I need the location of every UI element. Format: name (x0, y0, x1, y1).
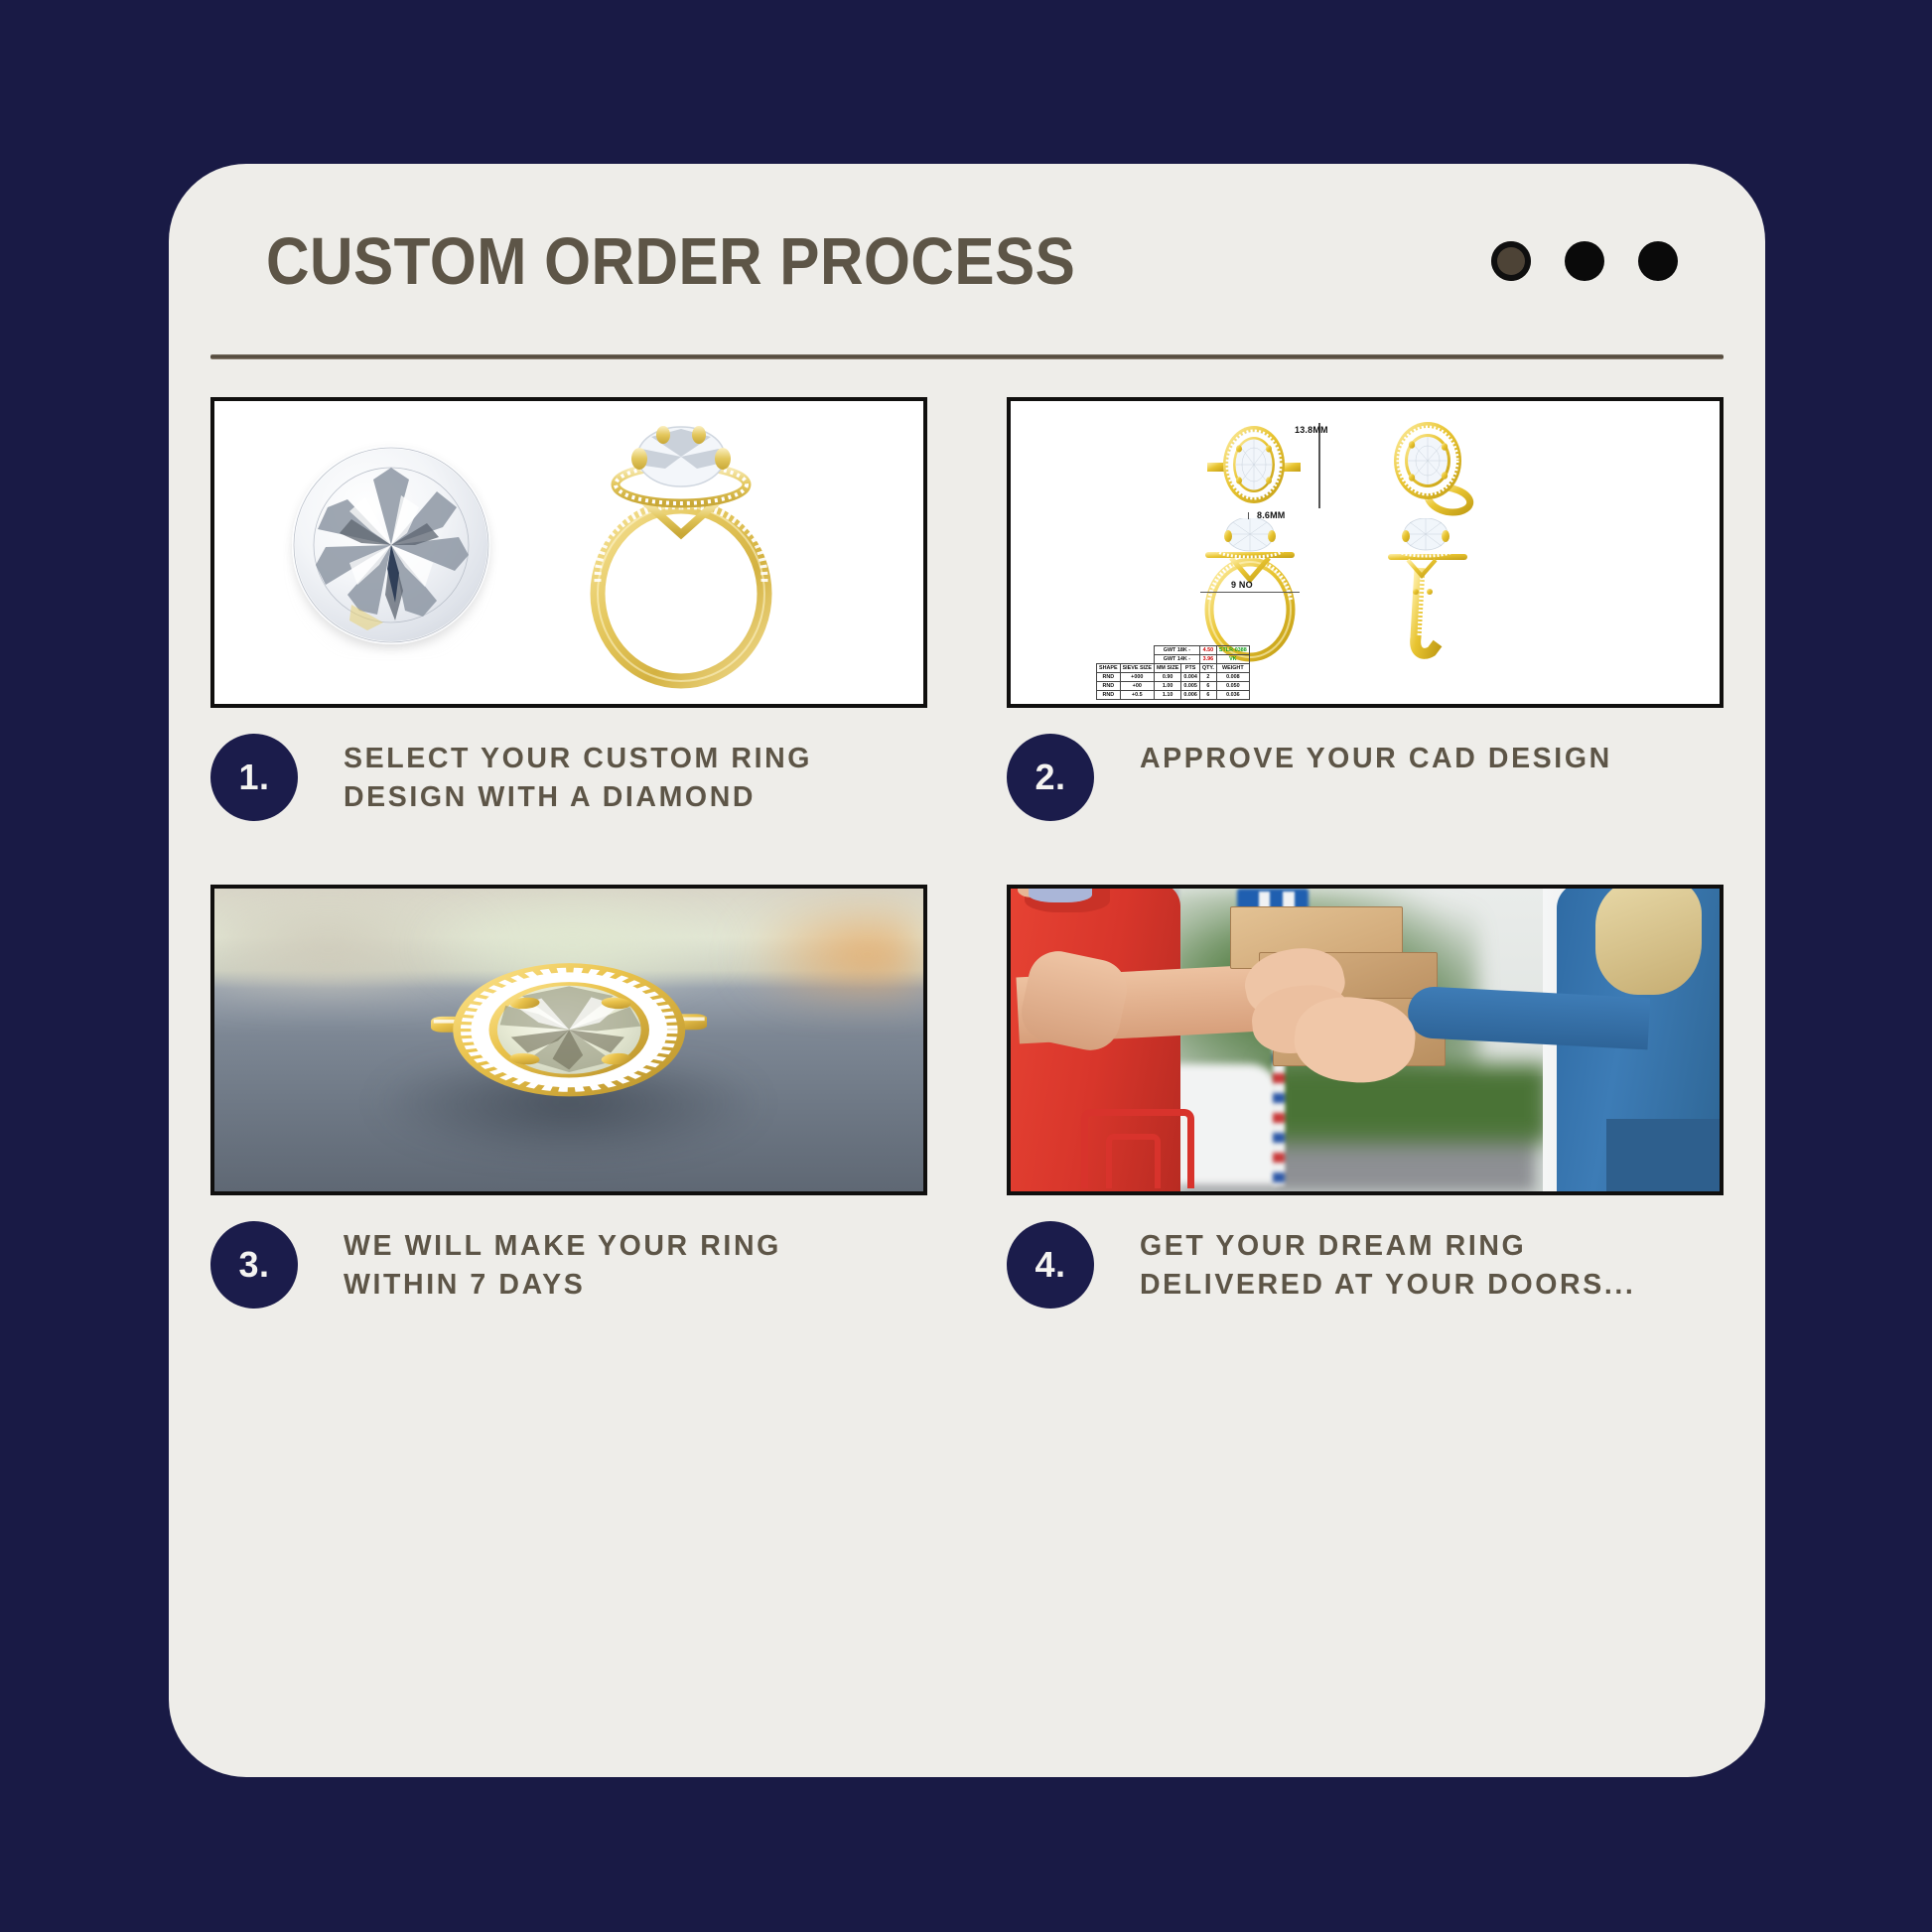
step-card-3: 3. WE WILL MAKE YOUR RING WITHIN 7 DAYS (210, 885, 927, 1309)
step-card-1: 1. SELECT YOUR CUSTOM RING DESIGN WITH A… (210, 397, 927, 821)
spec-cell: 0.90 (1154, 673, 1180, 682)
spec-col-weight: WEIGHT (1216, 664, 1249, 673)
spec-spacer-c (1097, 655, 1121, 664)
cad-view-top (1205, 423, 1303, 506)
spec-columns-row: SHAPE SIEVE SIZE MM SIZE PTS QTY. WEIGHT (1097, 664, 1250, 673)
step-card-2: 13.8MM (1007, 397, 1724, 821)
spec-cell: +0.5 (1120, 691, 1154, 700)
spec-spacer-d (1120, 655, 1154, 664)
customer-hair (1595, 889, 1702, 995)
spec-initials: VK (1216, 655, 1249, 664)
spec-gwt14k-label: GWT 14K - (1154, 655, 1199, 664)
spec-cell: 0.036 (1216, 691, 1249, 700)
dim-label-138: 13.8MM (1295, 425, 1328, 435)
step-3-image-frame (210, 885, 927, 1195)
window-dot-brown[interactable] (1491, 241, 1531, 281)
courier-face-mask (1029, 889, 1092, 902)
step-3-label: WE WILL MAKE YOUR RING WITHIN 7 DAYS (344, 1221, 860, 1306)
step-2-caption: 2. APPROVE YOUR CAD DESIGN (1007, 734, 1724, 821)
cad-side-svg (1376, 518, 1481, 663)
spec-col-sieve: SIEVE SIZE (1120, 664, 1154, 673)
spec-data-row: RND +000 0.90 0.004 2 0.008 (1097, 673, 1250, 682)
dim-tick-86 (1248, 512, 1249, 519)
dim-label-86: 8.6MM (1257, 510, 1286, 520)
hand-truck-bar (1106, 1134, 1161, 1188)
spec-cell: 0.008 (1216, 673, 1249, 682)
cad-view-perspective (1378, 421, 1487, 516)
spec-col-mm: MM SIZE (1154, 664, 1180, 673)
gold-ring-profile-render (532, 423, 830, 689)
spec-cell: RND (1097, 673, 1121, 682)
steps-row-1: 1. SELECT YOUR CUSTOM RING DESIGN WITH A… (210, 397, 1724, 821)
dim-line-size (1200, 592, 1300, 593)
step-4-badge: 4. (1007, 1221, 1094, 1309)
spec-cell: 2 (1199, 673, 1216, 682)
photo-hedge (1266, 1064, 1550, 1143)
step-1-image-frame (210, 397, 927, 708)
finished-ring-photo (214, 889, 923, 1191)
page-title: CUSTOM ORDER PROCESS (266, 223, 1075, 300)
cad-persp-svg (1378, 421, 1487, 516)
steps-row-2: 3. WE WILL MAKE YOUR RING WITHIN 7 DAYS (210, 885, 1724, 1309)
spec-cell: 0.004 (1181, 673, 1200, 682)
spec-cell: +00 (1120, 682, 1154, 691)
step-3-badge: 3. (210, 1221, 298, 1309)
step-1-label: SELECT YOUR CUSTOM RING DESIGN WITH A DI… (344, 734, 860, 818)
header-divider (210, 354, 1724, 359)
cad-spec-table: GWT 18K - 4.50 STLR-0388 GWT 14K - 3.96 … (1096, 645, 1250, 700)
customer-jeans (1606, 1119, 1720, 1191)
step-4-image-frame (1007, 885, 1724, 1195)
cad-view-front (1187, 518, 1312, 663)
spec-col-qty: QTY. (1199, 664, 1216, 673)
spec-gwt14k-value: 3.96 (1199, 655, 1216, 664)
spec-cell: 1.00 (1154, 682, 1180, 691)
step-2-label: APPROVE YOUR CAD DESIGN (1140, 734, 1612, 778)
cad-front-svg (1187, 518, 1312, 663)
loose-diamond-icon (292, 446, 490, 644)
spec-cell: 0.005 (1181, 682, 1200, 691)
step-2-badge: 2. (1007, 734, 1094, 821)
spec-cell: 1.10 (1154, 691, 1180, 700)
photo-ring-object (431, 940, 707, 1122)
diamond-facets-svg (292, 446, 490, 644)
spec-spacer-b (1120, 646, 1154, 655)
spec-cell: RND (1097, 682, 1121, 691)
poster-root: CUSTOM ORDER PROCESS (0, 0, 1932, 1932)
spec-cell: 6 (1199, 691, 1216, 700)
spec-spacer-a (1097, 646, 1121, 655)
spec-header-row-14k: GWT 14K - 3.96 VK (1097, 655, 1250, 664)
card-header: CUSTOM ORDER PROCESS (169, 164, 1765, 362)
dim-line-138 (1318, 423, 1320, 508)
spec-cell: 6 (1199, 682, 1216, 691)
ring-svg (532, 423, 830, 689)
spec-style-code: STLR-0388 (1216, 646, 1249, 655)
window-dot-black-2[interactable] (1638, 241, 1678, 281)
cad-top-svg (1205, 423, 1303, 506)
spec-data-row: RND +00 1.00 0.005 6 0.050 (1097, 682, 1250, 691)
spec-header-row-18k: GWT 18K - 4.50 STLR-0388 (1097, 646, 1250, 655)
spec-cell: RND (1097, 691, 1121, 700)
cad-view-side (1376, 518, 1481, 663)
spec-gwt18k-value: 4.50 (1199, 646, 1216, 655)
spec-data-row: RND +0.5 1.10 0.006 6 0.036 (1097, 691, 1250, 700)
step-4-caption: 4. GET YOUR DREAM RING DELIVERED AT YOUR… (1007, 1221, 1724, 1309)
spec-cell: 0.050 (1216, 682, 1249, 691)
step-1-caption: 1. SELECT YOUR CUSTOM RING DESIGN WITH A… (210, 734, 927, 821)
spec-cell: +000 (1120, 673, 1154, 682)
step-2-image-frame: 13.8MM (1007, 397, 1724, 708)
step-4-label: GET YOUR DREAM RING DELIVERED AT YOUR DO… (1140, 1221, 1696, 1306)
spec-col-shape: SHAPE (1097, 664, 1121, 673)
photo-ring-svg (431, 940, 707, 1122)
window-controls[interactable] (1491, 241, 1678, 281)
spec-col-pts: PTS (1181, 664, 1200, 673)
spec-gwt18k-label: GWT 18K - (1154, 646, 1199, 655)
window-dot-black-1[interactable] (1565, 241, 1604, 281)
photo-bg-orange-blur (739, 900, 923, 992)
dim-label-size: 9 NO (1231, 580, 1253, 590)
delivery-photo (1011, 889, 1720, 1191)
step-card-4: 4. GET YOUR DREAM RING DELIVERED AT YOUR… (1007, 885, 1724, 1309)
step-1-badge: 1. (210, 734, 298, 821)
browser-card: CUSTOM ORDER PROCESS (169, 164, 1765, 1777)
spec-cell: 0.006 (1181, 691, 1200, 700)
steps-grid: 1. SELECT YOUR CUSTOM RING DESIGN WITH A… (210, 397, 1724, 1309)
step-3-caption: 3. WE WILL MAKE YOUR RING WITHIN 7 DAYS (210, 1221, 927, 1309)
